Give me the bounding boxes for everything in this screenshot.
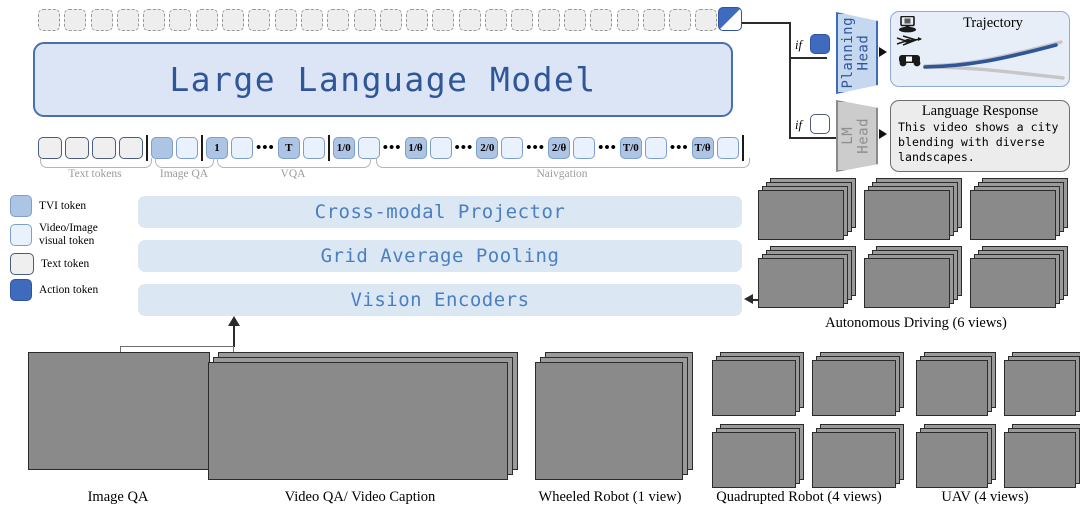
data-source-image-qa (28, 352, 210, 470)
visual-token[interactable] (231, 137, 253, 159)
view-cell (812, 352, 908, 420)
visual-token[interactable] (501, 137, 523, 159)
photo-stack-wheeled-robot (535, 352, 693, 480)
output-token-placeholder (117, 9, 139, 31)
photo-frame (758, 258, 844, 308)
driving-view-stack (864, 178, 968, 244)
lm-head-arrowhead (879, 129, 887, 139)
autonomous-driving-caption: Autonomous Driving (6 views) (758, 315, 1074, 332)
visual-token[interactable] (358, 137, 380, 159)
photo-frame (1004, 360, 1076, 416)
photo-stack-view-4 (812, 424, 904, 488)
token-ellipsis: ••• (383, 137, 402, 159)
tvi-token[interactable]: T/θ (692, 137, 714, 159)
output-token-placeholder (91, 9, 113, 31)
bottom-to-encoder-arrowhead (228, 316, 240, 326)
visual-token[interactable] (176, 137, 198, 159)
legend-label-action: Action token (39, 284, 98, 297)
legend: TVI tokenVideo/Imagevisual tokenText tok… (10, 193, 138, 303)
tvi-token[interactable]: T/0 (620, 137, 642, 159)
text-token[interactable] (65, 137, 89, 159)
photo-frame (970, 258, 1056, 308)
branch-line-planning (789, 57, 827, 59)
output-token-placeholder (248, 9, 270, 31)
language-response-title: Language Response (891, 103, 1069, 120)
view-cell (712, 424, 808, 492)
token-group-text-tokens (38, 137, 143, 159)
driving-view-stack (758, 246, 862, 312)
photo-frame (970, 190, 1056, 240)
photo-frame (1004, 432, 1076, 488)
group-brace-image-qa (155, 158, 214, 168)
data-source-row: Image QAVideo QA/ Video CaptionWheeled R… (0, 346, 1080, 517)
view-cell (1004, 352, 1080, 420)
legend-item-tvi: TVI token (10, 193, 138, 219)
driving-view-6 (970, 246, 1068, 308)
lm-head-label: LM Head (841, 118, 872, 154)
driving-view-stack (970, 178, 1074, 244)
token-group-image-qa (151, 137, 198, 159)
grid-average-pooling-block[interactable]: Grid Average Pooling (138, 240, 742, 272)
token-ellipsis: ••• (598, 137, 617, 159)
photo-frame (812, 432, 896, 488)
photo-stack-view-1 (712, 352, 804, 416)
output-token-placeholder (327, 9, 349, 31)
output-token-placeholder (222, 9, 244, 31)
photo-stack-view-2 (812, 352, 904, 416)
action-output-token[interactable] (718, 7, 742, 31)
output-token-placeholder (643, 9, 665, 31)
output-token-placeholder (406, 9, 428, 31)
branch-line-language (789, 137, 837, 139)
photo-stack-view-3 (712, 424, 804, 488)
output-token-placeholder (564, 9, 586, 31)
photo-frame (864, 258, 950, 308)
if-label-language: if (795, 118, 802, 133)
group-brace-text-tokens (40, 158, 152, 168)
data-source-wheeled-robot (535, 352, 693, 480)
autonomous-driving-images (758, 178, 1074, 312)
visual-token[interactable] (303, 137, 325, 159)
driving-view-3 (970, 178, 1068, 240)
planning-head-label: Planning Head (841, 17, 872, 88)
photo-frame (758, 190, 844, 240)
output-token-placeholder (695, 9, 717, 31)
output-token-placeholder (301, 9, 323, 31)
token-group-navigation: 1/0•••1/θ•••2/0•••2/θ•••T/0•••T/θ (333, 137, 739, 159)
caption-uav: UAV (4 views) (910, 489, 1060, 506)
output-token-placeholder (538, 9, 560, 31)
tvi-token[interactable]: 2/θ (548, 137, 570, 159)
trajectory-panel: Trajectory (890, 11, 1070, 87)
branch-trunk-vertical (789, 22, 791, 138)
output-token-placeholder (617, 9, 639, 31)
driving-view-stack (864, 246, 968, 312)
language-response-text: This video shows a city blending with di… (891, 120, 1069, 164)
token-ellipsis: ••• (526, 137, 545, 159)
driving-view-stack (758, 178, 862, 244)
driving-view-2 (864, 178, 962, 240)
language-response-panel: Language Response This video shows a cit… (890, 100, 1070, 172)
photo-stack-view-4 (1004, 424, 1080, 488)
driving-view-5 (864, 246, 962, 308)
driving-to-encoder-arrowhead (744, 294, 753, 304)
photo-stack-video-qa (208, 352, 518, 480)
driving-view-1 (758, 178, 856, 240)
tvi-token[interactable]: 1/0 (333, 137, 355, 159)
token-group-vqa: 1•••T (206, 137, 325, 159)
legend-item-visual: Video/Imagevisual token (10, 219, 138, 251)
legend-swatch-tvi (10, 195, 32, 217)
photo-frame (208, 362, 508, 480)
output-token-placeholder (275, 9, 297, 31)
group-brace-vqa (217, 158, 371, 168)
output-token-placeholder (511, 9, 533, 31)
lm-head[interactable]: LM Head (836, 100, 878, 172)
planning-condition-token[interactable] (810, 34, 830, 54)
token-ellipsis: ••• (670, 137, 689, 159)
photo-frame (712, 432, 796, 488)
output-token-row (38, 9, 717, 31)
photo-stack-view-3 (916, 424, 996, 488)
visual-token[interactable] (645, 137, 667, 159)
caption-wheeled-robot: Wheeled Robot (1 view) (520, 489, 700, 506)
output-token-placeholder (354, 9, 376, 31)
view-cell (916, 424, 1000, 492)
data-source-uav (916, 352, 1080, 492)
legend-item-action: Action token (10, 277, 138, 303)
legend-swatch-action (10, 279, 32, 301)
token-ellipsis: ••• (455, 137, 474, 159)
text-token[interactable] (38, 137, 62, 159)
tvi-token[interactable]: 1 (206, 137, 228, 159)
tvi-token[interactable]: 1/θ (405, 137, 427, 159)
legend-label-tvi: TVI token (39, 200, 86, 213)
output-token-placeholder (590, 9, 612, 31)
legend-label-text: Text token (41, 258, 89, 271)
legend-swatch-visual (10, 224, 32, 246)
photo-frame (712, 360, 796, 416)
branch-trunk-top (742, 22, 790, 24)
token-ellipsis: ••• (256, 137, 275, 159)
text-token[interactable] (119, 137, 143, 159)
view-cell (712, 352, 808, 420)
output-token-placeholder (459, 9, 481, 31)
output-token-placeholder (380, 9, 402, 31)
photo-frame (535, 362, 683, 480)
output-token-placeholder (196, 9, 218, 31)
group-label-image-qa: Image QA (148, 168, 220, 180)
output-token-placeholder (485, 9, 507, 31)
caption-video-qa: Video QA/ Video Caption (210, 489, 510, 506)
driving-view-4 (758, 246, 856, 308)
wheeled-robot-icon (896, 16, 922, 33)
group-label-navigation: Naivgation (376, 168, 748, 180)
photo-stack-image-qa (28, 352, 210, 470)
legend-swatch-text (10, 253, 34, 275)
photo-frame (812, 360, 896, 416)
group-label-text-tokens: Text tokens (40, 168, 150, 180)
cross-modal-projector-block[interactable]: Cross-modal Projector (138, 196, 742, 228)
car-icon (896, 52, 926, 67)
photo-frame (864, 190, 950, 240)
photo-stack-view-2 (1004, 352, 1080, 416)
legend-item-text: Text token (10, 251, 138, 277)
caption-image-qa: Image QA (18, 489, 218, 506)
driving-view-stack (970, 246, 1074, 312)
output-token-placeholder (669, 9, 691, 31)
caption-quadruped-robot: Quadrupted Robot (4 views) (686, 489, 912, 506)
data-source-quadruped-robot (712, 352, 908, 492)
legend-label-visual: Video/Imagevisual token (39, 222, 98, 248)
tvi-token[interactable]: 2/0 (476, 137, 498, 159)
photo-frame (28, 352, 210, 470)
view-cell (916, 352, 1000, 420)
group-brace-navigation (376, 158, 750, 168)
visual-token[interactable] (573, 137, 595, 159)
bottom-to-encoder-line (233, 325, 235, 347)
output-token-placeholder (432, 9, 454, 31)
photo-frame (916, 360, 988, 416)
photo-stack-view-1 (916, 352, 996, 416)
large-language-model-block[interactable]: Large Language Model (33, 42, 733, 117)
view-cell (812, 424, 908, 492)
visual-token[interactable] (717, 137, 739, 159)
text-token[interactable] (92, 137, 116, 159)
output-token-placeholder (169, 9, 191, 31)
output-token-placeholder (38, 9, 60, 31)
tvi-token[interactable] (151, 137, 173, 159)
tvi-token[interactable]: T (278, 137, 300, 159)
if-label-planning: if (795, 38, 802, 53)
drone-icon (894, 34, 924, 48)
view-cell (1004, 424, 1080, 492)
language-condition-token[interactable] (810, 114, 830, 134)
group-label-vqa: VQA (217, 168, 369, 180)
output-token-placeholder (64, 9, 86, 31)
vision-encoders-block[interactable]: Vision Encoders (138, 284, 742, 316)
photo-frame (916, 432, 988, 488)
output-token-placeholder (143, 9, 165, 31)
data-source-video-qa (208, 352, 518, 480)
visual-token[interactable] (430, 137, 452, 159)
planning-head[interactable]: Planning Head (836, 12, 878, 94)
planning-head-arrowhead (879, 47, 887, 57)
